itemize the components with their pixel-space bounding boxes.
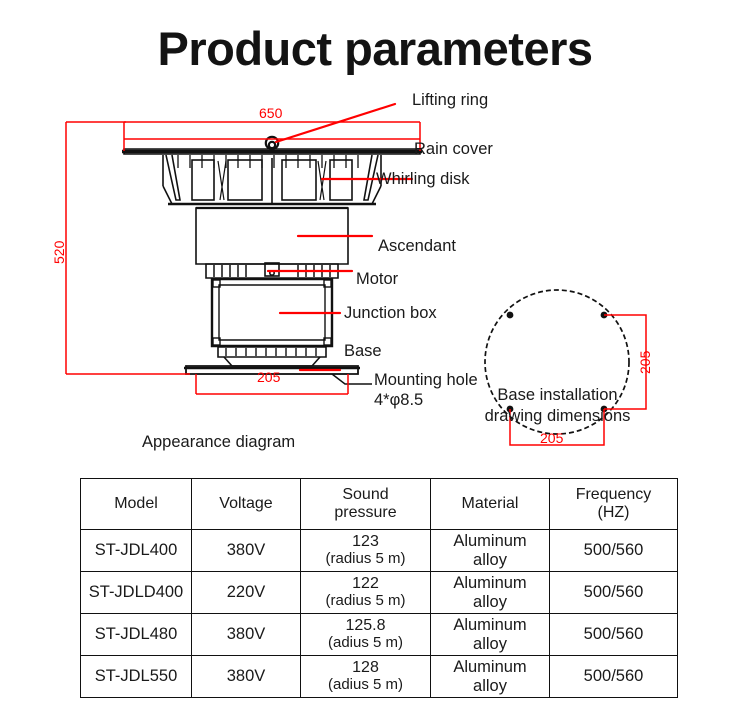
cell-material: Aluminum alloy: [431, 614, 550, 656]
appearance-drawing: Lifting ring Rain cover Whirling disk As…: [0, 82, 750, 462]
callout-label-mounting-hole: Mounting hole: [374, 371, 478, 390]
table-row: ST-JDL480 380V 125.8 (adius 5 m) Aluminu…: [81, 614, 678, 656]
cell-frequency: 500/560: [550, 572, 678, 614]
cell-frequency: 500/560: [550, 614, 678, 656]
cell-sound-pressure-radius: (radius 5 m): [301, 551, 430, 568]
dimension-label-overall-height: 520: [52, 241, 66, 264]
dimension-label-base-hole-horizontal: 205: [540, 431, 563, 445]
cell-model: ST-JDL400: [81, 530, 192, 572]
caption-appearance-diagram: Appearance diagram: [142, 432, 295, 453]
cell-sound-pressure-radius: (adius 5 m): [301, 677, 430, 694]
caption-base-installation-line1: Base installation: [497, 386, 617, 404]
cell-model: ST-JDLD400: [81, 572, 192, 614]
mounting-hole-leader: [332, 374, 372, 384]
cell-material-line1: Aluminum: [453, 616, 526, 634]
table-row: ST-JDL400 380V 123 (radius 5 m) Aluminum…: [81, 530, 678, 572]
table-header-material-text: Material: [431, 495, 549, 513]
cell-sound-pressure-radius: (radius 5 m): [301, 593, 430, 610]
cell-sound-pressure: 122 (radius 5 m): [301, 572, 431, 614]
caption-base-installation-line2: drawing dimensions: [485, 407, 631, 425]
cell-sound-pressure-value: 125.8: [301, 617, 430, 635]
lower-collar-shape: [218, 347, 326, 366]
callout-label-mounting-hole-spec: 4*φ8.5: [374, 391, 423, 410]
cell-material-line2: alloy: [473, 593, 507, 611]
cell-sound-pressure-radius: (adius 5 m): [301, 635, 430, 652]
cell-material-line2: alloy: [473, 635, 507, 653]
table-header-sound-pressure-line1: Sound: [301, 486, 430, 504]
dimension-label-overall-width: 650: [259, 106, 282, 120]
cell-voltage: 380V: [192, 656, 301, 698]
callout-label-whirling-disk: Whirling disk: [376, 170, 470, 189]
table-header-frequency-line1: Frequency: [550, 486, 677, 504]
rain-cover-shape: [122, 149, 422, 154]
table-header-sound-pressure: Sound pressure: [301, 479, 431, 530]
callout-label-motor: Motor: [356, 270, 398, 289]
callout-label-base: Base: [344, 342, 382, 361]
spec-table-container: Model Voltage Sound pressure Material Fr…: [80, 478, 672, 698]
cell-material-line1: Aluminum: [453, 658, 526, 676]
cell-model: ST-JDL480: [81, 614, 192, 656]
table-row: ST-JDL550 380V 128 (adius 5 m) Aluminum …: [81, 656, 678, 698]
cell-voltage: 220V: [192, 572, 301, 614]
cell-sound-pressure-value: 122: [301, 575, 430, 593]
cell-frequency: 500/560: [550, 530, 678, 572]
page-title: Product parameters: [0, 24, 750, 73]
table-header-frequency: Frequency (HZ): [550, 479, 678, 530]
cell-voltage: 380V: [192, 530, 301, 572]
cell-material: Aluminum alloy: [431, 530, 550, 572]
dimension-label-base-width: 205: [257, 370, 280, 384]
cell-sound-pressure: 123 (radius 5 m): [301, 530, 431, 572]
callout-label-rain-cover: Rain cover: [414, 140, 493, 159]
table-header-voltage-text: Voltage: [192, 495, 300, 513]
cell-material-line1: Aluminum: [453, 532, 526, 550]
cell-sound-pressure: 128 (adius 5 m): [301, 656, 431, 698]
cell-material-line2: alloy: [473, 551, 507, 569]
cell-sound-pressure-value: 128: [301, 659, 430, 677]
table-header-model: Model: [81, 479, 192, 530]
cell-voltage: 380V: [192, 614, 301, 656]
cell-material: Aluminum alloy: [431, 572, 550, 614]
table-header-model-text: Model: [81, 495, 191, 513]
product-spec-table: Model Voltage Sound pressure Material Fr…: [80, 478, 678, 698]
callout-label-junction-box: Junction box: [344, 304, 437, 323]
table-header-frequency-line2: (HZ): [550, 504, 677, 522]
cell-material-line1: Aluminum: [453, 574, 526, 592]
cell-material: Aluminum alloy: [431, 656, 550, 698]
callout-label-lifting-ring: Lifting ring: [412, 91, 488, 110]
cell-model: ST-JDL550: [81, 656, 192, 698]
cell-sound-pressure: 125.8 (adius 5 m): [301, 614, 431, 656]
cell-sound-pressure-value: 123: [301, 533, 430, 551]
callout-label-ascendant: Ascendant: [378, 237, 456, 256]
table-row: ST-JDLD400 220V 122 (radius 5 m) Aluminu…: [81, 572, 678, 614]
table-header-sound-pressure-line2: pressure: [301, 504, 430, 522]
table-header-row: Model Voltage Sound pressure Material Fr…: [81, 479, 678, 530]
table-header-voltage: Voltage: [192, 479, 301, 530]
cell-frequency: 500/560: [550, 656, 678, 698]
table-header-material: Material: [431, 479, 550, 530]
dimension-label-base-hole-vertical: 205: [638, 351, 652, 374]
cell-material-line2: alloy: [473, 677, 507, 695]
